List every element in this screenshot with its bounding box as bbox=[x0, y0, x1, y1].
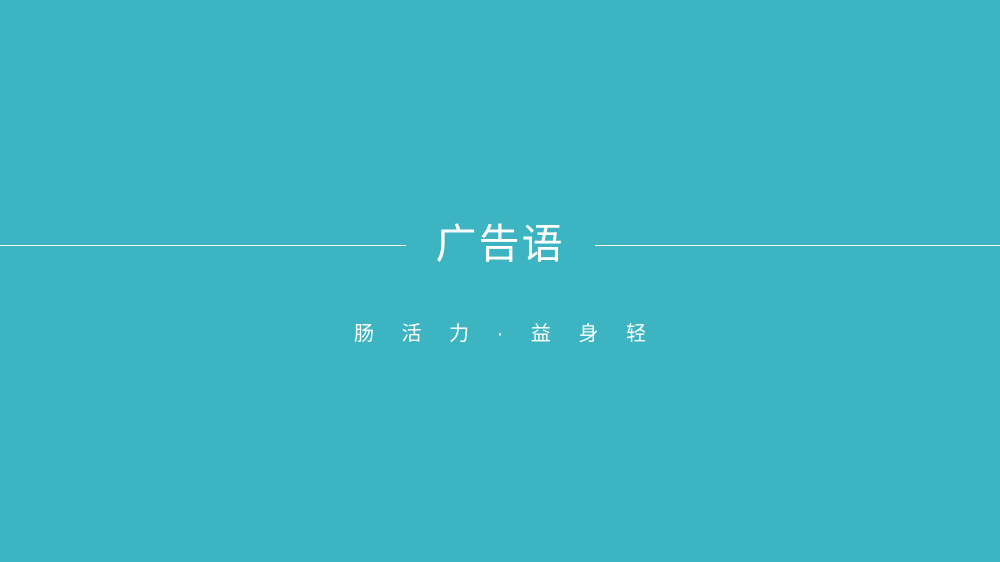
title-with-divider: 广告语 bbox=[0, 222, 1000, 268]
slide-subtitle: 肠 活 力 · 益 身 轻 bbox=[0, 320, 1000, 348]
divider-line-right bbox=[595, 245, 1000, 246]
slide-title: 广告语 bbox=[434, 221, 567, 267]
presentation-slide: 广告语 肠 活 力 · 益 身 轻 bbox=[0, 0, 1000, 562]
divider-line-left bbox=[0, 245, 406, 246]
